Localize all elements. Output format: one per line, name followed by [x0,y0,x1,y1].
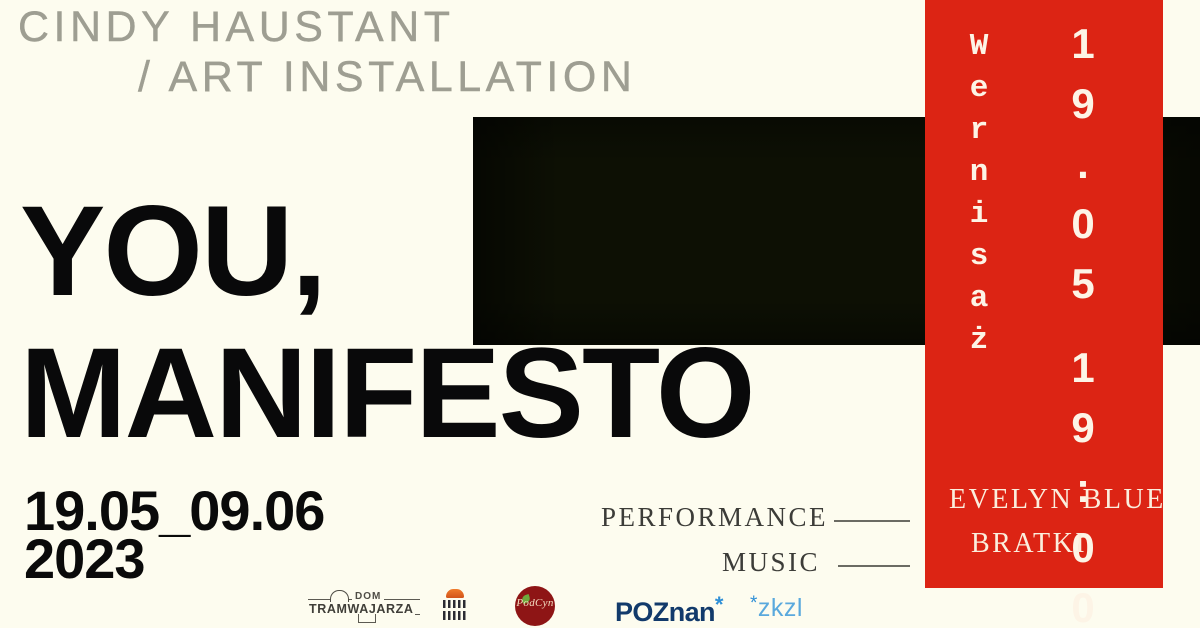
artist-header: CINDY HAUSTANT / ART INSTALLATION [18,2,818,102]
vertical-char: ż [959,320,999,362]
poster-canvas: CINDY HAUSTANT / ART INSTALLATION YOU, M… [0,0,1200,628]
vertical-char: i [959,194,999,236]
date-char: . [1053,134,1113,194]
vertical-char: r [959,110,999,152]
date-year: 2023 [24,535,324,583]
vernissage-vertical-label: W e r n i s a ż [959,26,999,362]
vertical-char: W [959,26,999,68]
time-char: 9 [1053,398,1113,458]
house-arch-icon [330,590,349,602]
performance-label: PERFORMANCE [601,502,828,532]
page-title: YOU, MANIFESTO [20,181,753,465]
dom-bracket-icon [358,614,376,623]
music-rule [838,565,910,567]
poznan-logo-text-2: nan [669,597,715,627]
poznan-logo-text-1: POZ [615,597,669,627]
title-line-2: MANIFESTO [20,323,753,465]
poznan-logo[interactable]: POZnan* [615,592,723,628]
artist-name: CINDY HAUSTANT [18,2,818,52]
vertical-char: n [959,152,999,194]
dom-logo-line-1: DOM [352,591,384,602]
lineup-band: BRATKI [941,522,1166,566]
performance-rule [834,520,910,522]
circle-logo-text: PodCyn [515,597,555,609]
building-band-icon [443,608,467,611]
dome-icon [446,589,464,598]
exhibition-dates: 19.05_09.06 2023 [24,487,324,583]
red-circle-logo[interactable]: PodCyn [515,586,555,626]
building-logo[interactable] [440,587,470,627]
asterisk-icon: * [715,592,723,617]
time-char: 1 [1053,338,1113,398]
artist-subtitle: / ART INSTALLATION [18,52,818,102]
sponsor-logo-strip: DOM TRAMWAJARZA PodCyn POZnan* *zkzl [300,586,860,628]
time-char: 0 [1053,578,1113,628]
vernissage-panel: W e r n i s a ż 1 9 . 0 5 1 9 : 0 0 EVEL… [925,0,1163,588]
music-label: MUSIC [722,547,820,577]
date-char: 9 [1053,74,1113,134]
credits-block: PERFORMANCE MUSIC [560,495,910,585]
vertical-char: s [959,236,999,278]
zkzl-logo-text: zkzl [758,594,803,622]
vertical-char: a [959,278,999,320]
date-char: 1 [1053,14,1113,74]
lineup-block: EVELYN BLUE BRATKI [941,478,1166,566]
datetime-spacer [1053,314,1113,338]
credit-performance: PERFORMANCE [560,495,910,540]
date-char: 5 [1053,254,1113,314]
asterisk-icon: * [750,593,758,614]
lineup-performer: EVELYN BLUE [941,478,1166,522]
date-char: 0 [1053,194,1113,254]
zkzl-logo[interactable]: *zkzl [750,593,803,623]
credit-music: MUSIC [560,540,910,585]
dom-tramwajarza-logo[interactable]: DOM TRAMWAJARZA [308,588,420,628]
title-line-1: YOU, [20,181,753,323]
vertical-char: e [959,68,999,110]
